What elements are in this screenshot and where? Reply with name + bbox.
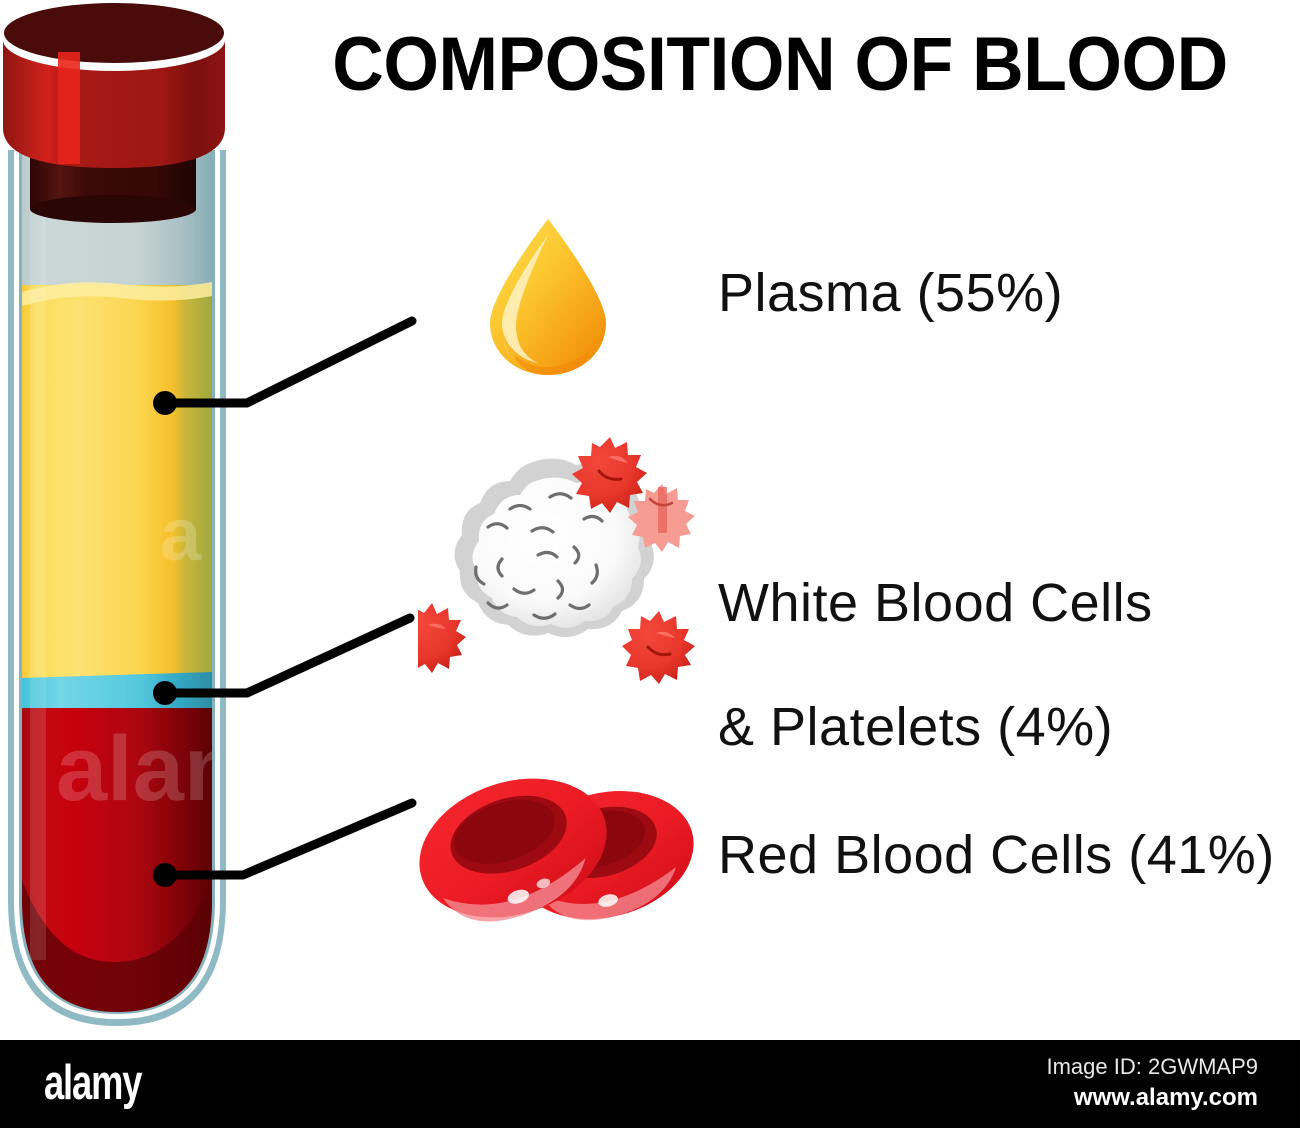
leader-wbc-svg <box>0 560 440 760</box>
label-white-blood-cells: White Blood Cells & Platelets (4%) <box>718 510 1153 820</box>
alamy-url-text: www.alamy.com <box>1074 1083 1258 1113</box>
page-title: COMPOSITION OF BLOOD <box>301 22 1260 108</box>
white-blood-cell-with-platelets-icon <box>418 435 698 685</box>
leader-plasma-svg <box>0 0 440 440</box>
leader-path-plasma <box>165 321 412 403</box>
leader-rbc-svg <box>0 760 440 940</box>
label-wbc-line2: & Platelets (4%) <box>718 696 1153 758</box>
droplet-svg <box>458 205 638 385</box>
image-id-text: Image ID: 2GWMAP9 <box>1046 1053 1258 1081</box>
leader-path-rbc <box>165 803 412 875</box>
alamy-footer-bar: alamy Image ID: 2GWMAP9 www.alamy.com <box>0 1040 1300 1128</box>
wbc-svg <box>418 435 698 685</box>
diagram-canvas: COMPOSITION OF BLOOD <box>0 0 1300 1128</box>
leader-line-wbc <box>0 560 440 760</box>
leader-path-wbc <box>165 618 410 693</box>
rbc-svg <box>405 760 705 930</box>
label-red-blood-cells: Red Blood Cells (41%) <box>718 824 1275 886</box>
platelet-bottom-left <box>418 603 466 673</box>
droplet-body <box>490 219 606 375</box>
golden-droplet-icon <box>458 205 638 385</box>
alamy-logo: alamy <box>44 1054 141 1112</box>
platelet-bottom-right <box>622 611 695 684</box>
red-blood-cells-icon <box>405 760 705 930</box>
label-plasma: Plasma (55%) <box>718 262 1063 324</box>
leader-line-plasma <box>0 0 440 440</box>
leader-line-rbc <box>0 760 440 940</box>
label-wbc-line1: White Blood Cells <box>718 572 1153 634</box>
